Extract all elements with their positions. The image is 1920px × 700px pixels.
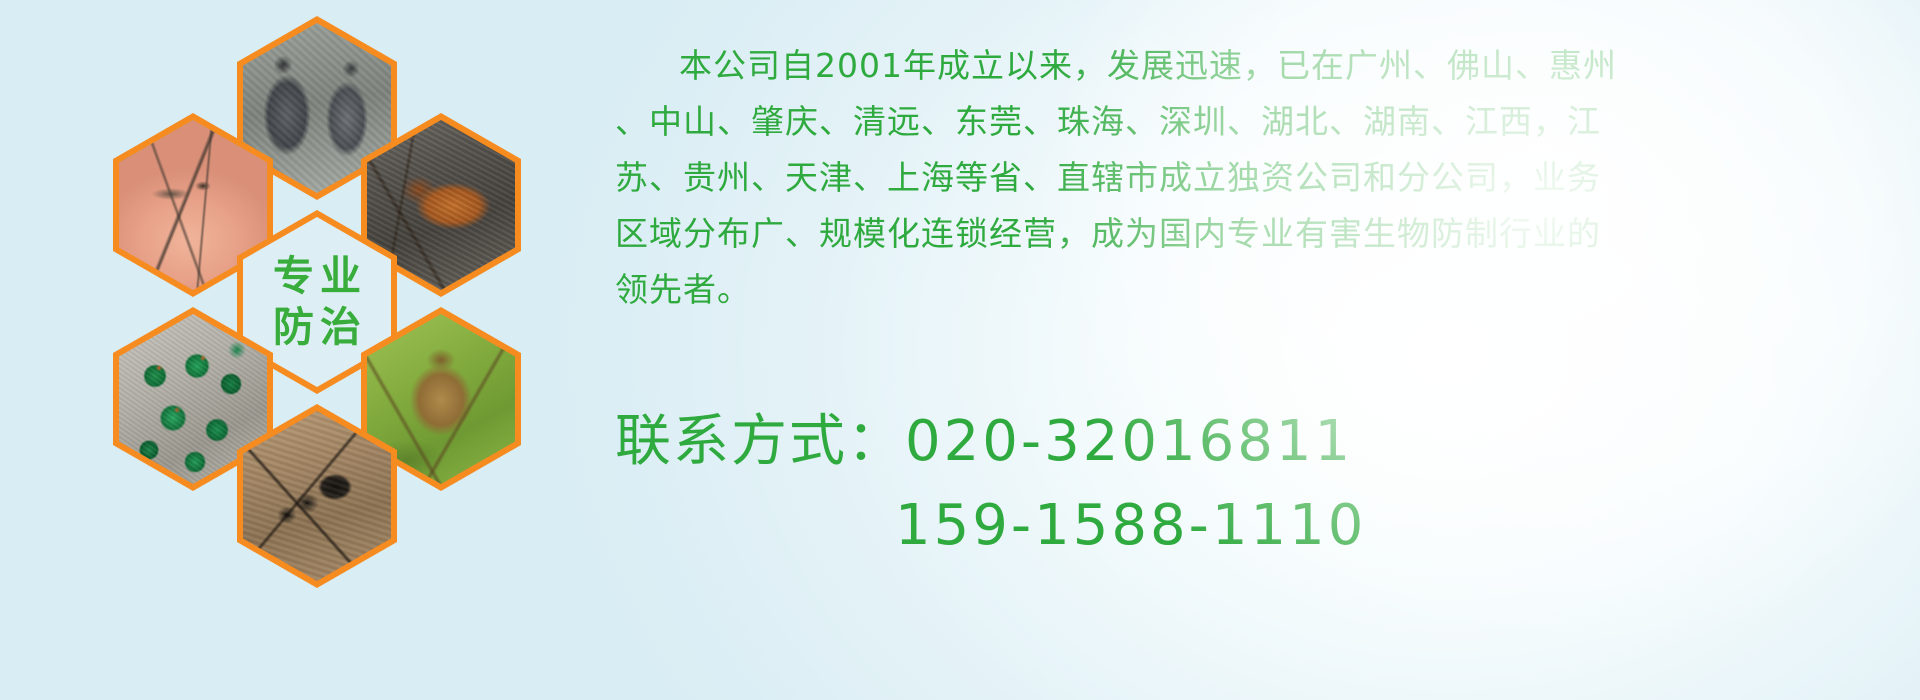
honeycomb-image-cluster: 专业 防治: [95, 10, 595, 570]
contact-secondary-line: 159-1588-1110: [615, 484, 1915, 568]
contact-primary-line: 联系方式：020-32016811: [615, 400, 1915, 484]
promo-banner: 专业 防治 本公司自2001年成立以来，发展迅速，已在广州、佛山、惠州 、中山、…: [0, 0, 1920, 700]
contact-block: 联系方式：020-32016811 159-1588-1110: [615, 400, 1915, 568]
ants-photo: [243, 411, 391, 581]
ants-image-art: [243, 411, 391, 581]
about-line-4: 区域分布广、规模化连锁经营，成为国内专业有害生物防制行业的: [615, 206, 1915, 262]
contact-phone-secondary[interactable]: 159-1588-1110: [895, 493, 1366, 558]
about-line-3: 苏、贵州、天津、上海等省、直辖市成立独资公司和分公司，业务: [615, 150, 1915, 206]
center-label-line2: 防治: [267, 305, 367, 350]
about-line-1: 本公司自2001年成立以来，发展迅速，已在广州、佛山、惠州: [615, 38, 1915, 94]
about-company-paragraph: 本公司自2001年成立以来，发展迅速，已在广州、佛山、惠州 、中山、肇庆、清远、…: [615, 38, 1915, 318]
contact-phone-primary[interactable]: 020-32016811: [905, 409, 1353, 474]
about-line-5: 领先者。: [615, 262, 1915, 318]
contact-label: 联系方式：: [615, 409, 905, 474]
about-line-2: 、中山、肇庆、清远、东莞、珠海、深圳、湖北、湖南、江西，江: [615, 94, 1915, 150]
center-label-line1: 专业: [267, 254, 367, 299]
